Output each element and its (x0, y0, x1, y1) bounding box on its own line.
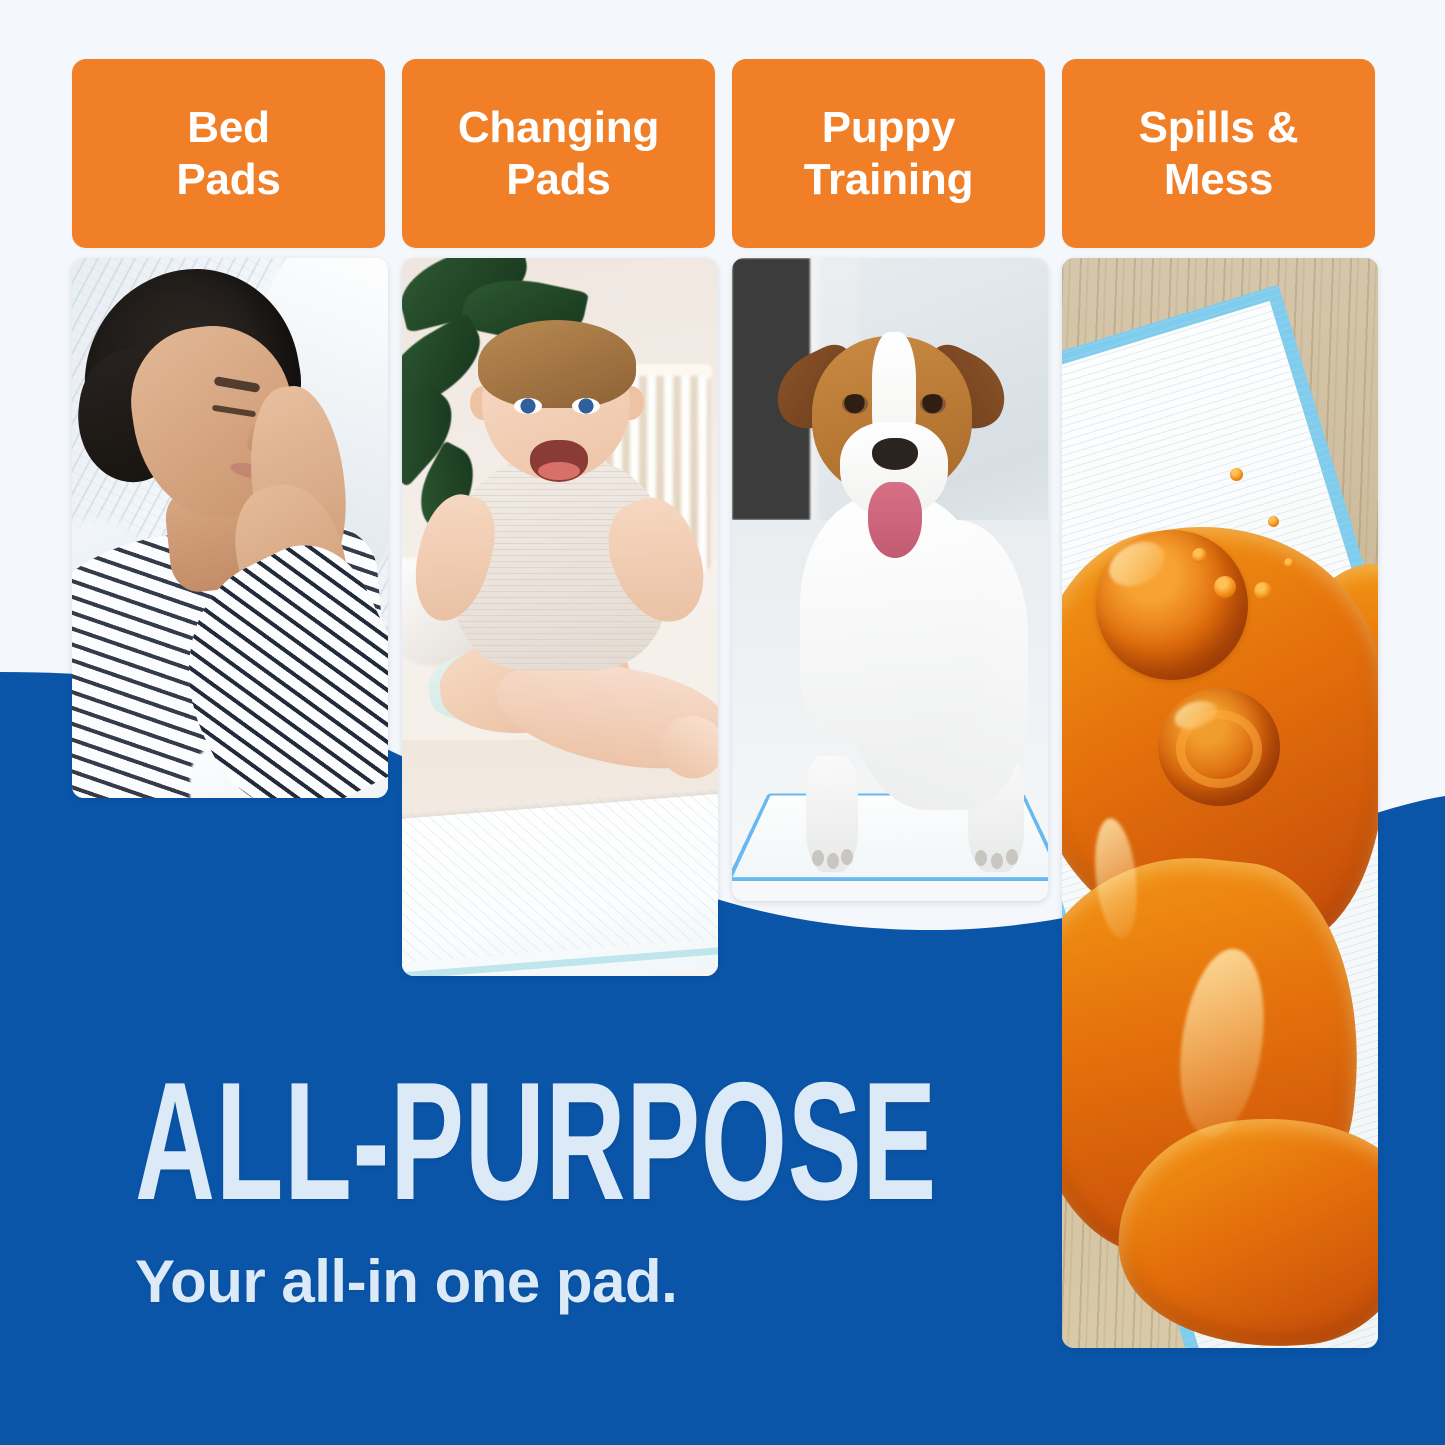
dog-eye-left (842, 394, 868, 414)
category-card-spills-mess[interactable]: Spills & Mess (1062, 59, 1375, 248)
headline-block: ALL-PURPOSE Your all-in one pad. (135, 1064, 1350, 1316)
baby-open-mouth (530, 440, 588, 482)
category-card-row: Bed Pads Changing Pads Puppy Training Sp… (72, 59, 1375, 248)
dog-toe (827, 853, 839, 869)
category-card-bed-pads[interactable]: Bed Pads (72, 59, 385, 248)
syrup-droplet (1214, 576, 1236, 598)
dog-toe (991, 853, 1003, 869)
dog-tongue (868, 482, 922, 558)
dog-toe (841, 849, 853, 865)
puppy-training-photo (732, 258, 1048, 901)
dog-front-paw-left (806, 756, 858, 872)
page-subtitle: Your all-in one pad. (135, 1247, 1350, 1316)
category-card-puppy-training-label: Puppy Training (804, 102, 974, 206)
baby-hair (478, 320, 636, 408)
syrup-droplet (1254, 582, 1272, 600)
changing-pad-texture (402, 785, 718, 965)
syrup-droplet (1192, 548, 1207, 563)
bed-pads-photo (72, 258, 388, 798)
dog-eye-right (920, 394, 946, 414)
marketing-banner: Bed Pads Changing Pads Puppy Training Sp… (0, 0, 1445, 1445)
syrup-droplet (1230, 468, 1243, 481)
category-card-changing-pads[interactable]: Changing Pads (402, 59, 715, 248)
page-title: ALL-PURPOSE (135, 1064, 937, 1219)
category-card-puppy-training[interactable]: Puppy Training (732, 59, 1045, 248)
changing-pads-scene (402, 258, 718, 976)
syrup-droplet (1284, 558, 1294, 568)
dog-toe (975, 850, 987, 866)
changing-pads-photo (402, 258, 718, 976)
dog-toe (1006, 849, 1018, 865)
category-card-changing-pads-label: Changing Pads (458, 102, 659, 206)
bed-pads-scene (72, 258, 388, 798)
category-card-spills-mess-label: Spills & Mess (1139, 102, 1299, 206)
baby-eye-right (572, 398, 600, 414)
category-card-bed-pads-label: Bed Pads (176, 102, 280, 206)
dog-toe (812, 850, 824, 866)
baby-eye-left (514, 398, 542, 414)
dog-nose (872, 438, 918, 470)
puppy-training-scene (732, 258, 1048, 901)
syrup-droplet (1268, 516, 1279, 527)
